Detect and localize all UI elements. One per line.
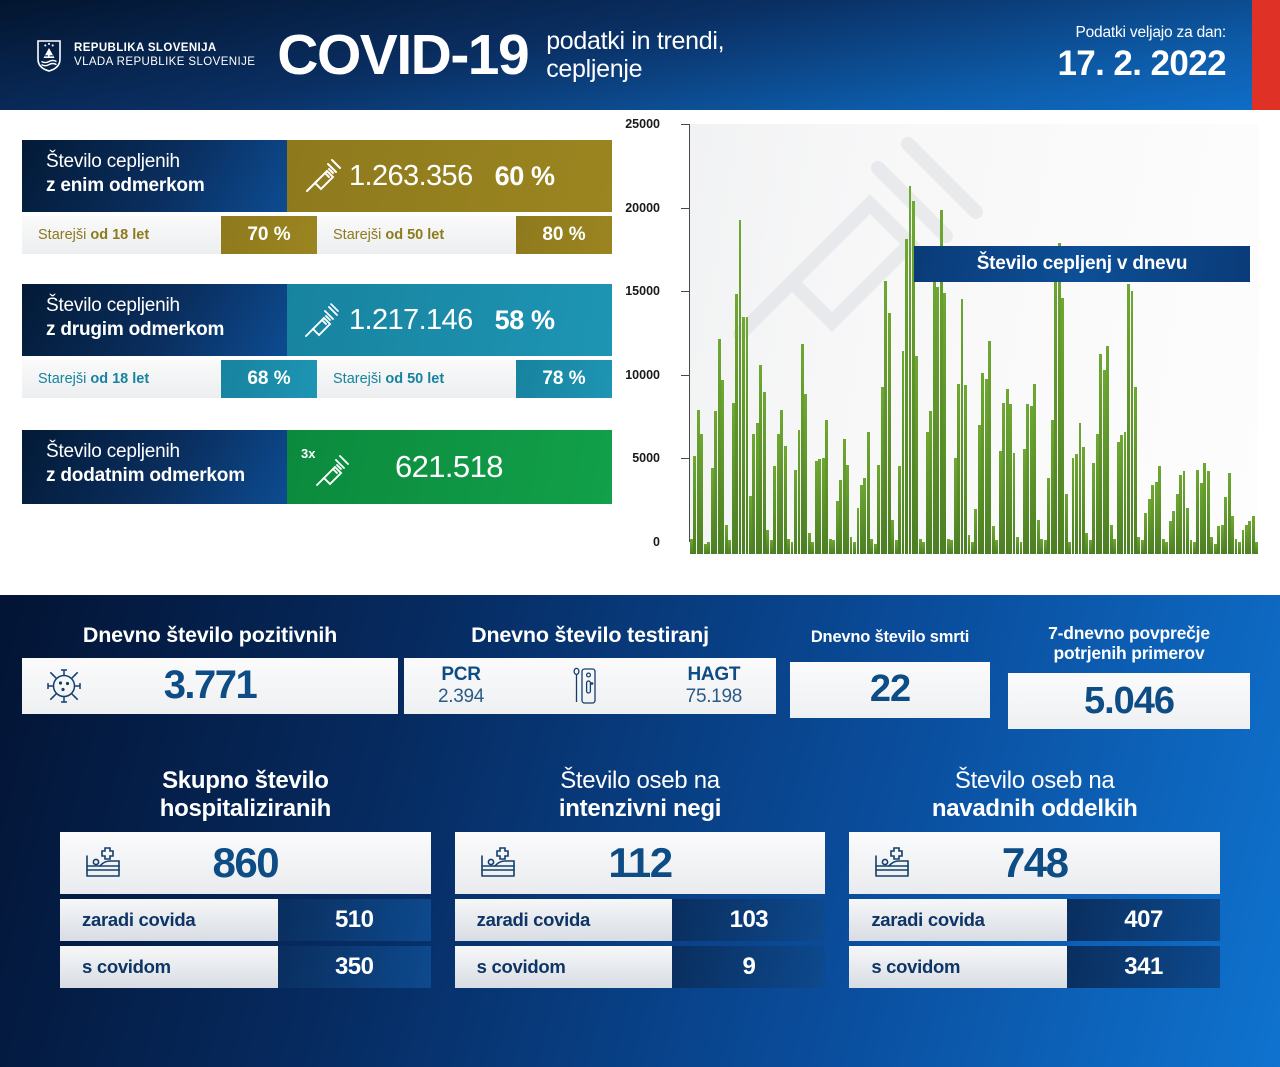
chart-bar — [957, 384, 960, 554]
dose1-value-box: 1.263.356 60 % — [287, 140, 612, 212]
dose1-percent: 60 % — [495, 161, 555, 192]
chart-bar — [728, 540, 731, 554]
dose3-label-line2: z dodatnim odmerkom — [46, 464, 287, 488]
chart-plot-area — [690, 124, 1258, 554]
chart-bar — [746, 317, 749, 554]
chart-bar — [888, 313, 891, 554]
chart-bar — [968, 535, 971, 554]
hospital-total-row-due: zaradi covida 510 — [60, 899, 431, 941]
pcr-value: 2.394 — [438, 686, 484, 707]
daily-stats-row: Dnevno število pozitivnih 3.771 — [0, 595, 1280, 729]
chart-bar — [700, 434, 703, 554]
chart-bar — [1217, 526, 1220, 554]
hospital-total-title: Skupno število hospitaliziranih — [60, 767, 431, 822]
chart-bar — [1085, 533, 1088, 554]
weekly-average-card: 5.046 — [1008, 673, 1250, 729]
red-accent-bar — [1252, 0, 1280, 110]
dose2-sub-row: Starejši od 18 let 68 % Starejši od 50 l… — [22, 360, 612, 398]
hospital-icu-title-line1: Število oseb na — [455, 767, 826, 795]
chart-bar — [1193, 542, 1196, 554]
chart-bar — [863, 478, 866, 554]
chart-bar — [804, 394, 807, 554]
government-logo: REPUBLIKA SLOVENIJA VLADA REPUBLIKE SLOV… — [36, 39, 255, 72]
dose2-percent: 58 % — [495, 305, 555, 336]
chart-bar — [756, 423, 759, 554]
hospital-regular-due-value: 407 — [1067, 899, 1220, 941]
hospital-regular-card: 748 — [849, 832, 1220, 894]
chart-bar — [787, 539, 790, 554]
weekly-average-value: 5.046 — [1084, 680, 1174, 723]
hospital-icu-with-value: 9 — [672, 946, 825, 988]
chart-bar — [1231, 516, 1234, 554]
chart-bar — [950, 540, 953, 554]
hospital-icu-title: Število oseb na intenzivni negi — [455, 767, 826, 822]
chart-bar — [877, 465, 880, 554]
chart-bar — [1110, 525, 1113, 554]
chart-bar — [1002, 403, 1005, 554]
chart-bar — [1089, 540, 1092, 554]
chart-bar — [1169, 521, 1172, 554]
chart-bar — [1082, 447, 1085, 554]
chart-bar — [1016, 537, 1019, 554]
chart-bar — [902, 351, 905, 554]
chart-bar — [714, 411, 717, 554]
daily-tests-title: Dnevno število testiranj — [404, 623, 776, 648]
chart-bar — [870, 539, 873, 554]
weekly-average-block: 7-dnevno povprečje potrjenih primerov 5.… — [1008, 623, 1250, 729]
dose1-age18-label: Starejši od 18 let — [22, 216, 221, 254]
dose3-main-row: Število cepljenih z dodatnim odmerkom 3x — [22, 430, 612, 504]
dose3-badge: 3x — [301, 446, 315, 461]
chart-bar — [874, 544, 877, 554]
triple-syringe-icon: 3x — [301, 444, 357, 490]
daily-positives-card: 3.771 — [22, 658, 398, 714]
chart-bars — [690, 124, 1258, 554]
chart-bar — [905, 239, 908, 554]
chart-bar — [718, 339, 721, 554]
dose1-count: 1.263.356 — [349, 160, 473, 193]
hospital-total-block: Skupno število hospitaliziranih 860 — [60, 767, 431, 988]
dose2-age50-label: Starejši od 50 let — [317, 360, 516, 398]
dose1-age18-cell: Starejši od 18 let 70 % — [22, 216, 317, 254]
chart-bar — [1023, 449, 1026, 554]
chart-bar — [1075, 454, 1078, 554]
chart-bar — [1137, 537, 1140, 554]
weekly-average-title-line1: 7-dnevno povprečje — [1008, 623, 1250, 643]
chart-bar — [1058, 243, 1061, 554]
chart-bar — [850, 537, 853, 554]
chart-y-tick — [681, 291, 690, 292]
chart-y-tick-label: 20000 — [625, 201, 660, 215]
hagt-group: HAGT 75.198 — [686, 664, 742, 707]
chart-bar — [1235, 539, 1238, 554]
chart-y-tick — [681, 458, 690, 459]
chart-bar — [763, 392, 766, 554]
chart-y-tick — [681, 124, 690, 125]
dose1-age18-value: 70 % — [221, 216, 317, 254]
gov-name-line1: REPUBLIKA SLOVENIJA — [74, 41, 255, 55]
chart-bar — [992, 526, 995, 554]
hospital-icu-value: 112 — [608, 839, 671, 887]
dose1-main-row: Število cepljenih z enim odmerkom — [22, 140, 612, 212]
dose2-value-box: 1.217.146 58 % — [287, 284, 612, 356]
chart-bar — [818, 459, 821, 554]
chart-bar — [1061, 298, 1064, 554]
chart-bar — [846, 465, 849, 554]
dose1-age18-label-bold: od 18 let — [90, 227, 149, 243]
hospital-stats-row: Skupno število hospitaliziranih 860 — [0, 767, 1280, 988]
chart-bar — [978, 425, 981, 554]
chart-bar — [1151, 485, 1154, 554]
chart-bar — [884, 281, 887, 554]
chart-bar — [815, 461, 818, 554]
date-block: Podatki veljajo za dan: 17. 2. 2022 — [1057, 24, 1226, 84]
dose3-count: 621.518 — [395, 449, 503, 485]
dose2-age50-label-bold: od 50 let — [385, 371, 444, 387]
chart-bar — [988, 341, 991, 554]
page-subtitle: podatki in trendi, cepljenje — [546, 27, 724, 83]
dose2-age18-cell: Starejši od 18 let 68 % — [22, 360, 317, 398]
vaccination-dose1-group: Število cepljenih z enim odmerkom — [22, 140, 636, 254]
dose1-label: Število cepljenih z enim odmerkom — [22, 140, 287, 212]
hospital-bed-icon — [479, 846, 519, 880]
dose1-age50-value: 80 % — [516, 216, 612, 254]
daily-positives-title: Dnevno število pozitivnih — [22, 623, 398, 648]
chart-bar — [1117, 442, 1120, 554]
dose2-count: 1.217.146 — [349, 304, 473, 337]
chart-title-badge: Število cepljenj v dnevu — [914, 246, 1250, 282]
chart-bar — [1030, 406, 1033, 554]
chart-bar — [742, 317, 745, 554]
chart-bar — [770, 540, 773, 554]
chart-bar — [1224, 497, 1227, 554]
chart-bar — [832, 540, 835, 554]
chart-bar — [773, 466, 776, 554]
double-syringe-icon — [301, 299, 343, 341]
chart-bar — [1047, 478, 1050, 554]
hospital-icu-due-value: 103 — [672, 899, 825, 941]
chart-bar — [732, 403, 735, 554]
hospital-total-with-value: 350 — [278, 946, 431, 988]
chart-bar — [1186, 508, 1189, 554]
chart-bar — [895, 540, 898, 554]
subtitle-line1: podatki in trendi, — [546, 27, 724, 55]
dose1-label-line2: z enim odmerkom — [46, 174, 287, 198]
dose1-age50-label-plain: Starejši — [333, 227, 381, 243]
subtitle-line2: cepljenje — [546, 55, 724, 83]
chart-bar — [1183, 471, 1186, 554]
chart-bar — [843, 439, 846, 554]
hospital-total-card: 860 — [60, 832, 431, 894]
chart-bar — [974, 509, 977, 554]
hospital-icu-row-due: zaradi covida 103 — [455, 899, 826, 941]
slovenia-coat-of-arms-icon — [36, 39, 62, 72]
chart-bar — [919, 539, 922, 554]
chart-bar — [936, 287, 939, 554]
chart-bar — [794, 470, 797, 554]
chart-bar — [1026, 404, 1029, 554]
pcr-group: PCR 2.394 — [438, 664, 484, 707]
hospital-regular-block: Število oseb na navadnih oddelkih 748 — [849, 767, 1220, 988]
chart-bar — [981, 373, 984, 554]
hospital-total-row-with: s covidom 350 — [60, 946, 431, 988]
dose2-main-row: Število cepljenih z drugim odmerkom — [22, 284, 612, 356]
chart-bar — [739, 220, 742, 554]
chart-bar — [752, 434, 755, 554]
chart-bar — [1124, 432, 1127, 554]
chart-bar — [721, 380, 724, 554]
hospital-regular-row-with: s covidom 341 — [849, 946, 1220, 988]
chart-bar — [947, 539, 950, 554]
chart-bar — [1131, 291, 1134, 554]
daily-deaths-value: 22 — [870, 668, 910, 711]
chart-bar — [766, 530, 769, 554]
hospital-icu-due-label: zaradi covida — [455, 899, 673, 941]
chart-bar — [784, 446, 787, 554]
hospital-regular-due-label: zaradi covida — [849, 899, 1067, 941]
hospital-icu-title-line2: intenzivni negi — [455, 795, 826, 823]
hospital-icu-row-with: s covidom 9 — [455, 946, 826, 988]
dose2-age18-label: Starejši od 18 let — [22, 360, 221, 398]
dose1-age50-label-bold: od 50 let — [385, 227, 444, 243]
chart-bar — [798, 430, 801, 554]
chart-y-tick-label: 25000 — [625, 117, 660, 131]
chart-bar — [1013, 453, 1016, 554]
chart-bar — [867, 432, 870, 554]
daily-deaths-block: Dnevno število smrti 22 — [790, 623, 990, 729]
daily-positives-block: Dnevno število pozitivnih 3.771 — [22, 623, 398, 729]
chart-bar — [909, 186, 912, 554]
vaccination-dose2-group: Število cepljenih z drugim odmerkom — [22, 284, 636, 398]
chart-bar — [1106, 346, 1109, 554]
chart-bar — [1165, 542, 1168, 554]
chart-bar — [1040, 539, 1043, 554]
chart-bar — [825, 420, 828, 554]
dose2-age50-label-plain: Starejši — [333, 371, 381, 387]
chart-bar — [1096, 434, 1099, 554]
chart-bar — [749, 496, 752, 554]
vaccination-dose3-group: Število cepljenih z dodatnim odmerkom 3x — [22, 430, 636, 504]
hospital-total-title-line1: Skupno število — [60, 767, 431, 795]
pcr-label: PCR — [438, 664, 484, 685]
chart-bar — [808, 533, 811, 554]
chart-bar — [693, 456, 696, 554]
dose2-age50-cell: Starejši od 50 let 78 % — [317, 360, 612, 398]
chart-bar — [1148, 499, 1151, 554]
hospital-regular-title: Število oseb na navadnih oddelkih — [849, 767, 1220, 822]
chart-bar — [1051, 420, 1054, 554]
chart-bar — [711, 468, 714, 554]
chart-bar — [1238, 542, 1241, 554]
chart-bar — [985, 379, 988, 554]
hospital-total-value: 860 — [213, 839, 279, 887]
daily-vaccinations-chart: 0500010000150002000025000 Število ceplje… — [636, 110, 1280, 595]
chart-bar — [943, 293, 946, 554]
chart-bar — [839, 480, 842, 554]
hagt-value: 75.198 — [686, 686, 742, 707]
chart-bar — [791, 542, 794, 554]
chart-bar — [1155, 482, 1158, 554]
dose2-age18-label-plain: Starejši — [38, 371, 86, 387]
dose1-age50-cell: Starejši od 50 let 80 % — [317, 216, 612, 254]
hospital-regular-with-label: s covidom — [849, 946, 1067, 988]
chart-bar — [1172, 511, 1175, 554]
infographic-page: REPUBLIKA SLOVENIJA VLADA REPUBLIKE SLOV… — [0, 0, 1280, 1067]
chart-bar — [1210, 537, 1213, 554]
chart-bar — [777, 434, 780, 554]
chart-bar — [964, 385, 967, 554]
chart-bar — [933, 279, 936, 554]
daily-tests-card: PCR 2.394 HAGT — [404, 658, 776, 714]
hospital-icu-block: Število oseb na intenzivni negi 112 — [455, 767, 826, 988]
hagt-label: HAGT — [686, 664, 742, 685]
chart-bar — [915, 356, 918, 554]
chart-bar — [1020, 542, 1023, 554]
daily-positives-value: 3.771 — [164, 663, 257, 708]
chart-bar — [1009, 404, 1012, 554]
chart-bar — [961, 299, 964, 554]
dose2-age18-value: 68 % — [221, 360, 317, 398]
blue-stats-section: Dnevno število pozitivnih 3.771 — [0, 595, 1280, 1067]
page-header: REPUBLIKA SLOVENIJA VLADA REPUBLIKE SLOV… — [0, 0, 1280, 110]
chart-bar — [1072, 458, 1075, 554]
chart-bar — [1179, 475, 1182, 554]
syringe-icon — [301, 155, 343, 197]
chart-bar — [1190, 540, 1193, 554]
hospital-regular-value: 748 — [1002, 839, 1068, 887]
vaccination-panel: Število cepljenih z enim odmerkom — [0, 110, 636, 595]
chart-bar — [1162, 539, 1165, 554]
chart-bar — [1099, 354, 1102, 554]
chart-y-tick — [681, 208, 690, 209]
dose1-age18-label-plain: Starejši — [38, 227, 86, 243]
chart-bar — [1079, 423, 1082, 554]
chart-bar — [853, 542, 856, 554]
dose1-age50-label: Starejši od 50 let — [317, 216, 516, 254]
chart-bar — [1065, 494, 1068, 554]
daily-deaths-card: 22 — [790, 662, 990, 718]
chart-y-axis-labels: 0500010000150002000025000 — [636, 124, 674, 542]
chart-bar — [1245, 525, 1248, 554]
title-block: COVID-19 podatki in trendi, cepljenje — [277, 27, 724, 84]
chart-bar — [725, 525, 728, 554]
hospital-regular-row-due: zaradi covida 407 — [849, 899, 1220, 941]
chart-bar — [1207, 471, 1210, 554]
chart-bar — [922, 542, 925, 554]
chart-bar — [690, 539, 693, 554]
chart-y-tick-label: 15000 — [625, 284, 660, 298]
date-value: 17. 2. 2022 — [1057, 44, 1226, 84]
hospital-bed-icon — [873, 846, 913, 880]
chart-bar — [1144, 513, 1147, 554]
chart-bar — [1113, 539, 1116, 554]
chart-bar — [1141, 540, 1144, 554]
chart-bar — [735, 294, 738, 554]
dose3-label: Število cepljenih z dodatnim odmerkom — [22, 430, 287, 504]
hospital-icu-with-label: s covidom — [455, 946, 673, 988]
chart-bar — [1214, 544, 1217, 554]
chart-bar — [971, 542, 974, 554]
chart-bar — [1200, 483, 1203, 554]
chart-bar — [1054, 255, 1057, 554]
chart-bar — [1221, 525, 1224, 554]
chart-y-tick — [681, 375, 690, 376]
chart-bar — [1248, 521, 1251, 554]
test-swab-icon — [572, 666, 598, 706]
dose3-label-line1: Število cepljenih — [46, 440, 287, 464]
gov-name-line2: VLADA REPUBLIKE SLOVENIJE — [74, 55, 255, 69]
chart-bar — [1242, 530, 1245, 554]
hospital-icu-card: 112 — [455, 832, 826, 894]
chart-bar — [759, 365, 762, 554]
chart-bar — [1033, 384, 1036, 554]
chart-bar — [1176, 494, 1179, 554]
chart-bar — [1103, 370, 1106, 554]
chart-bar — [1228, 473, 1231, 554]
hospital-regular-title-line1: Število oseb na — [849, 767, 1220, 795]
daily-tests-block: Dnevno število testiranj PCR 2.394 — [404, 623, 776, 729]
hospital-regular-title-line2: navadnih oddelkih — [849, 795, 1220, 823]
chart-bar — [1255, 542, 1258, 554]
chart-bar — [929, 411, 932, 554]
daily-deaths-title: Dnevno število smrti — [790, 628, 990, 647]
chart-bar — [860, 485, 863, 554]
chart-bar — [1158, 466, 1161, 554]
chart-bar — [999, 451, 1002, 554]
dose3-value-box: 3x 621.518 — [287, 430, 612, 504]
chart-bar — [891, 520, 894, 554]
chart-bar — [1044, 540, 1047, 554]
dose2-label: Število cepljenih z drugim odmerkom — [22, 284, 287, 356]
chart-bar — [1127, 284, 1130, 554]
chart-bar — [954, 458, 957, 554]
dose2-label-line1: Število cepljenih — [46, 294, 287, 318]
weekly-average-title: 7-dnevno povprečje potrjenih primerov — [1008, 623, 1250, 663]
hospital-bed-icon — [84, 846, 124, 880]
date-label: Podatki veljajo za dan: — [1057, 24, 1226, 42]
hospital-regular-with-value: 341 — [1067, 946, 1220, 988]
chart-bar — [857, 508, 860, 554]
chart-bar — [707, 542, 710, 554]
weekly-average-title-line2: potrjenih primerov — [1008, 643, 1250, 663]
chart-bar — [898, 466, 901, 554]
chart-bar — [1120, 435, 1123, 554]
chart-bar — [1196, 470, 1199, 554]
chart-bar — [822, 458, 825, 554]
chart-bar — [836, 501, 839, 554]
chart-y-tick-label: 0 — [653, 535, 660, 549]
chart-y-tick-label: 5000 — [632, 451, 660, 465]
chart-bar — [811, 542, 814, 554]
chart-y-axis — [674, 124, 690, 542]
chart-bar — [1037, 520, 1040, 554]
chart-bar — [881, 387, 884, 554]
dose2-age18-label-bold: od 18 let — [90, 371, 149, 387]
chart-y-tick-label: 10000 — [625, 368, 660, 382]
chart-bar — [926, 432, 929, 554]
dose1-sub-row: Starejši od 18 let 70 % Starejši od 50 l… — [22, 216, 612, 254]
chart-bar — [829, 539, 832, 554]
virus-icon — [44, 666, 84, 706]
chart-bar — [1006, 389, 1009, 554]
dose2-age50-value: 78 % — [516, 360, 612, 398]
chart-bar — [1252, 516, 1255, 554]
dose2-label-line2: z drugim odmerkom — [46, 318, 287, 342]
dose1-label-line1: Število cepljenih — [46, 150, 287, 174]
chart-bar — [1203, 463, 1206, 554]
hospital-total-due-value: 510 — [278, 899, 431, 941]
upper-section: Število cepljenih z enim odmerkom — [0, 110, 1280, 595]
